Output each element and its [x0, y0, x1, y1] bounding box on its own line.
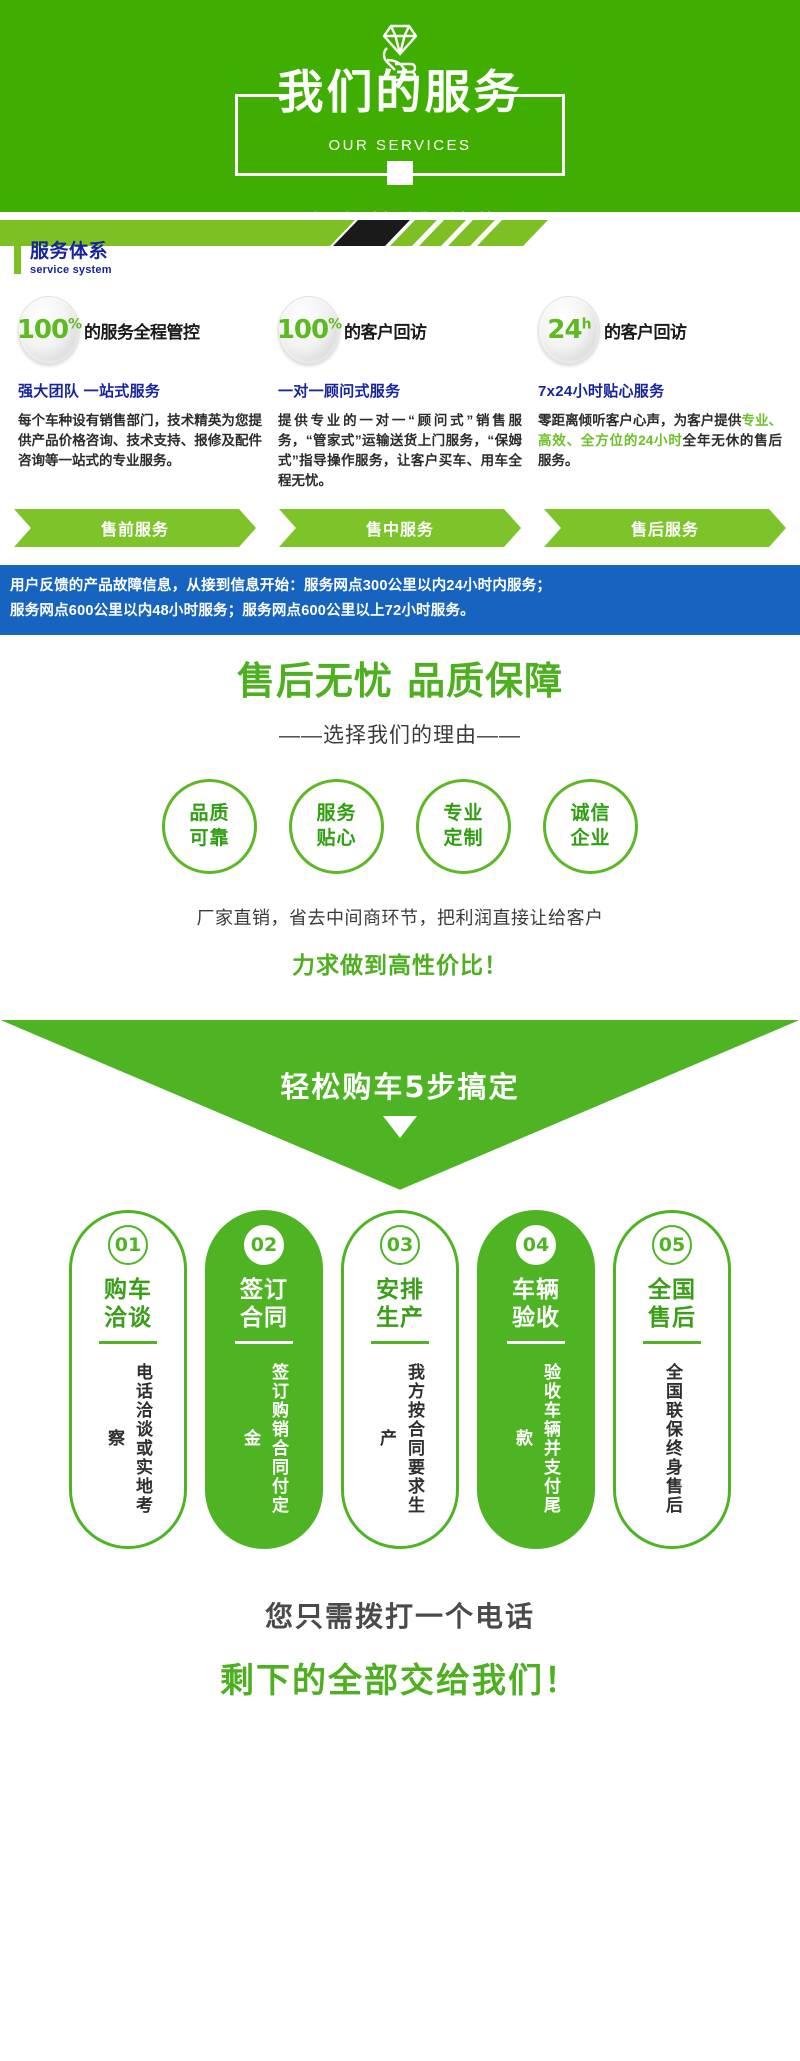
- badge-3-value: 24: [547, 315, 581, 345]
- reason-2-line1: 服务: [316, 801, 356, 826]
- step-card-05[interactable]: 05 全国 售后 全国联保终身售后: [613, 1210, 731, 1549]
- reasons-tagline-1: 厂家直销，省去中间商环节，把利润直接让给客户: [0, 904, 800, 930]
- service-system-decor-bar: [0, 220, 800, 246]
- badge-3-number: 24h: [547, 317, 590, 343]
- badge-2-number: 100%: [277, 317, 341, 343]
- notice-line-1: 用户反馈的产品故障信息，从接到信息开始：服务网点300公里以内24小时内服务；: [10, 574, 790, 599]
- chevron-aftersale[interactable]: 售后服务: [544, 509, 786, 547]
- footer-line-2: 剩下的全部交给我们！: [0, 1653, 800, 1702]
- reason-4-line1: 诚信: [570, 801, 610, 826]
- notice-line-2: 服务网点600公里以内48小时服务；服务网点600公里以上72小时服务。: [10, 599, 790, 624]
- step-01-title: 购车 洽谈: [104, 1275, 152, 1331]
- reason-3-line1: 专业: [443, 801, 483, 826]
- big-arrow-text: 轻松购车5步搞定: [0, 1064, 800, 1106]
- purchase-steps-row: 01 购车 洽谈 电话洽谈或实地考察 02 签订 合同 签订购销合同付定金 03…: [0, 1210, 800, 1549]
- response-time-notice: 用户反馈的产品故障信息，从接到信息开始：服务网点300公里以内24小时内服务； …: [0, 565, 800, 635]
- step-03-divider: [371, 1341, 429, 1344]
- features-row: 100% 的服务全程管控 强大团队 一站式服务 每个车种设有销售部门，技术精英为…: [0, 274, 800, 491]
- step-05-title: 全国 售后: [648, 1275, 696, 1331]
- footer-line-1: 您只需拨打一个电话: [0, 1595, 800, 1635]
- reason-circle-custom: 专业 定制: [416, 779, 511, 874]
- badge-2-unit: %: [328, 316, 341, 332]
- step-03-title: 安排 生产: [376, 1275, 424, 1331]
- caret-down-icon: [383, 1116, 417, 1138]
- service-stage-chevrons: 售前服务 售中服务 售后服务: [0, 491, 800, 547]
- reason-circle-service: 服务 贴心: [289, 779, 384, 874]
- step-card-02[interactable]: 02 签订 合同 签订购销合同付定金: [205, 1210, 323, 1549]
- step-05-desc: 全国联保终身售后: [658, 1354, 686, 1524]
- hero-title-en: OUR SERVICES: [238, 137, 562, 154]
- feature-card-1: 100% 的服务全程管控 强大团队 一站式服务 每个车种设有销售部门，技术精英为…: [10, 296, 270, 491]
- service-system-title-cn: 服务体系: [30, 242, 112, 262]
- badge-1-value: 100: [17, 315, 68, 345]
- hero-title-cn: 我们的服务: [238, 69, 562, 115]
- feature-2-title: 一对一顾问式服务: [278, 380, 522, 401]
- badge-3-unit: h: [582, 316, 591, 332]
- step-03-number: 03: [380, 1225, 420, 1265]
- feature-2-badge-suffix: 的客户回访: [344, 318, 427, 343]
- reason-1-line2: 可靠: [189, 826, 229, 851]
- chevron-presale[interactable]: 售前服务: [14, 509, 256, 547]
- reasons-subheading: ——选择我们的理由——: [0, 719, 800, 749]
- reasons-section: 售后无忧 品质保障 ——选择我们的理由—— 品质 可靠 服务 贴心 专业 定制 …: [0, 635, 800, 980]
- reasons-heading: 售后无忧 品质保障: [0, 661, 800, 703]
- hero-banner: 我们的服务 OUR SERVICES ——团队服务 选择我们 选择放心——: [0, 0, 800, 212]
- service-system-header: 服务体系 service system: [0, 212, 800, 274]
- step-card-01[interactable]: 01 购车 洽谈 电话洽谈或实地考察: [69, 1210, 187, 1549]
- step-02-number: 02: [244, 1225, 284, 1265]
- feature-3-badge-suffix: 的客户回访: [604, 318, 687, 343]
- feature-3-title: 7x24小时贴心服务: [538, 380, 782, 401]
- badge-circle-2: 100%: [278, 296, 340, 364]
- reason-4-line2: 企业: [570, 826, 610, 851]
- step-03-desc: 我方按合同要求生产: [372, 1354, 428, 1524]
- service-system-title-en: service system: [30, 262, 112, 278]
- reason-circle-quality: 品质 可靠: [162, 779, 257, 874]
- step-01-divider: [99, 1341, 157, 1344]
- feature-3-body-hl2: 24小时: [638, 433, 682, 448]
- feature-3-body-before: 零距离倾听客户心声，为客户提供: [538, 413, 741, 428]
- feature-1-body: 每个车种设有销售部门，技术精英为您提供产品价格咨询、技术支持、报修及配件咨询等一…: [18, 411, 262, 471]
- badge-circle-3: 24h: [538, 296, 600, 364]
- service-landing-page: 我们的服务 OUR SERVICES ——团队服务 选择我们 选择放心—— 服务…: [0, 0, 800, 1736]
- hero-title-frame: 我们的服务 OUR SERVICES: [235, 94, 565, 176]
- feature-card-3: 24h 的客户回访 7x24小时贴心服务 零距离倾听客户心声，为客户提供专业、高…: [530, 296, 790, 491]
- step-04-divider: [507, 1341, 565, 1344]
- step-card-04[interactable]: 04 车辆 验收 验收车辆并支付尾款: [477, 1210, 595, 1549]
- badge-1-number: 100%: [17, 317, 81, 343]
- feature-1-badge-suffix: 的服务全程管控: [84, 318, 200, 343]
- step-04-desc: 验收车辆并支付尾款: [508, 1354, 564, 1524]
- feature-2-body: 提供专业的一对一“顾问式”销售服务，“管家式”运输送货上门服务，“保姆式”指导操…: [278, 411, 522, 491]
- badge-2-value: 100: [277, 315, 328, 345]
- step-04-title: 车辆 验收: [512, 1275, 560, 1331]
- step-02-desc: 签订购销合同付定金: [236, 1354, 292, 1524]
- badge-1-unit: %: [68, 316, 81, 332]
- feature-3-head: 24h 的客户回访: [538, 296, 782, 364]
- reason-3-line2: 定制: [443, 826, 483, 851]
- reason-circles: 品质 可靠 服务 贴心 专业 定制 诚信 企业: [0, 779, 800, 874]
- step-02-divider: [235, 1341, 293, 1344]
- feature-1-head: 100% 的服务全程管控: [18, 296, 262, 364]
- step-05-divider: [643, 1341, 701, 1344]
- reason-1-line1: 品质: [189, 801, 229, 826]
- step-02-title: 签订 合同: [240, 1275, 288, 1331]
- feature-3-body: 零距离倾听客户心声，为客户提供专业、高效、全方位的24小时全年无休的售后服务。: [538, 411, 782, 471]
- badge-circle-1: 100%: [18, 296, 80, 364]
- accent-tick-icon: [14, 244, 21, 274]
- reason-circle-integrity: 诚信 企业: [543, 779, 638, 874]
- feature-1-title: 强大团队 一站式服务: [18, 380, 262, 401]
- service-system-titleblock: 服务体系 service system: [14, 242, 112, 278]
- step-05-number: 05: [652, 1225, 692, 1265]
- big-arrow-shape: 轻松购车5步搞定: [0, 1020, 800, 1190]
- feature-card-2: 100% 的客户回访 一对一顾问式服务 提供专业的一对一“顾问式”销售服务，“管…: [270, 296, 530, 491]
- step-04-number: 04: [516, 1225, 556, 1265]
- feature-2-head: 100% 的客户回访: [278, 296, 522, 364]
- reasons-tagline-2: 力求做到高性价比！: [0, 946, 800, 980]
- reason-2-line2: 贴心: [316, 826, 356, 851]
- step-card-03[interactable]: 03 安排 生产 我方按合同要求生产: [341, 1210, 459, 1549]
- footer-cta: 您只需拨打一个电话 剩下的全部交给我们！: [0, 1549, 800, 1736]
- purchase-steps-arrow-banner: 轻松购车5步搞定: [0, 1020, 800, 1210]
- step-01-number: 01: [108, 1225, 148, 1265]
- step-01-desc: 电话洽谈或实地考察: [100, 1354, 156, 1524]
- chevron-insale[interactable]: 售中服务: [279, 509, 521, 547]
